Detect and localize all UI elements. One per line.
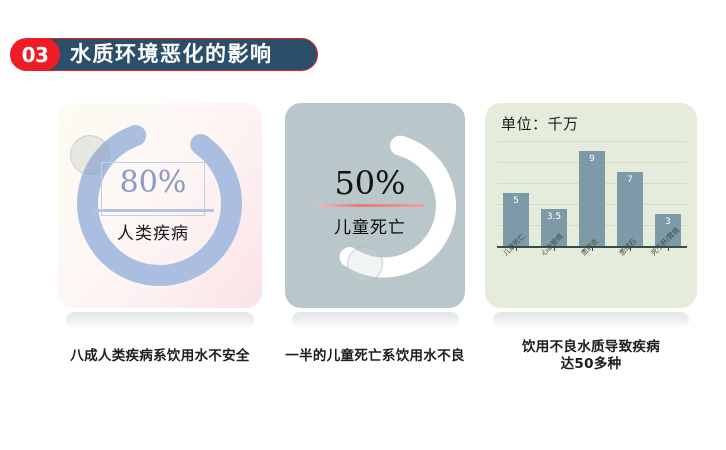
percent-value-child-mortality: 50% [295, 163, 445, 203]
chart-x-labels: 儿童死亡 心血管病 患肝炎 患结石 死于肝/胃癌 [497, 251, 687, 301]
caption-line-2: 达50多种 [488, 356, 694, 373]
bar-series: 5 3.5 9 7 3 [497, 141, 687, 246]
section-number-badge: 03 [10, 38, 60, 71]
caption-line-1: 饮用不良水质导致疾病 [488, 339, 694, 356]
panel-1-reflection [66, 312, 254, 328]
panel-disease-types: 单位：千万 5 3.5 9 7 3 [485, 103, 697, 308]
bar-item: 9 [579, 151, 605, 246]
panel-2-reflection [292, 312, 459, 328]
percent-underline-2 [318, 204, 424, 207]
bar-value-label: 9 [589, 155, 595, 246]
bar-item: 7 [617, 172, 643, 246]
panel-label-human-disease: 人类疾病 [81, 219, 225, 244]
panel-human-disease: 80% 人类疾病 [57, 103, 262, 308]
bar-chart: 5 3.5 9 7 3 [497, 141, 687, 246]
percent-underline-1 [92, 209, 214, 212]
bar-value-label: 7 [627, 176, 633, 246]
caption-child-mortality: 一半的儿童死亡系饮用水不良 [262, 348, 488, 365]
panel-3-reflection [493, 312, 689, 328]
percent-value-human-disease: 80% [101, 159, 205, 207]
panel-child-mortality: 50% 儿童死亡 [285, 103, 465, 308]
page-title: 水质环境恶化的影响 [70, 38, 273, 71]
section-number-text: 03 [22, 45, 49, 65]
caption-disease-types: 饮用不良水质导致疾病 达50多种 [488, 339, 694, 373]
chart-unit-label: 单位：千万 [501, 113, 579, 134]
ring-endpoint-dot-icon-2 [347, 246, 383, 282]
panel-label-child-mortality: 儿童死亡 [295, 213, 445, 238]
caption-human-disease: 八成人类疾病系饮用水不安全 [35, 348, 285, 365]
